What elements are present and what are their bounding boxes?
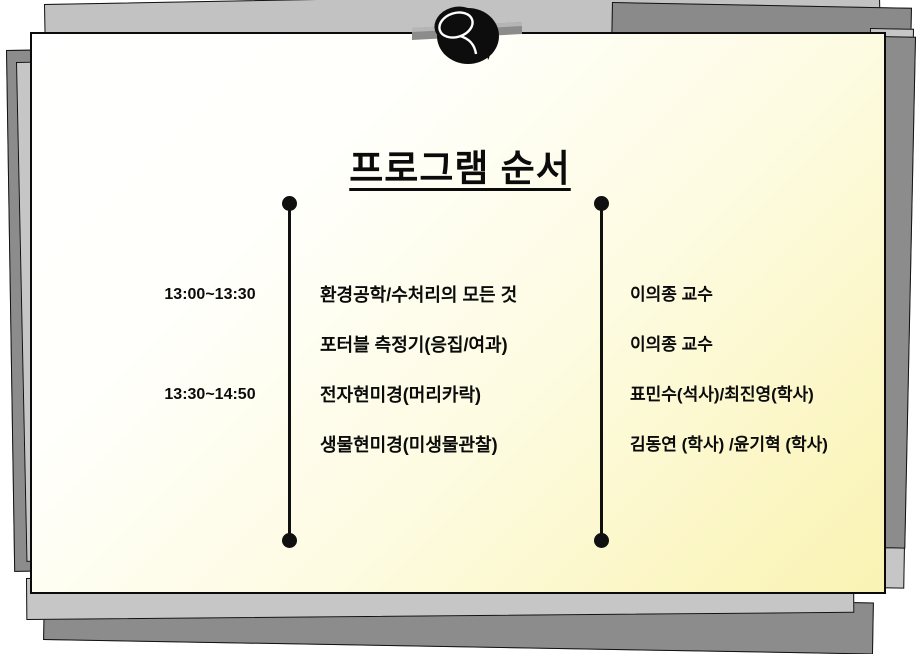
divider-cap-top — [282, 196, 297, 211]
divider-cap-bottom — [594, 533, 609, 548]
schedule-time: 13:30~14:50 — [144, 370, 276, 420]
schedule-time: 13:00~13:30 — [144, 270, 276, 320]
divider-cap-top — [594, 196, 609, 211]
main-page: 프로그램 순서 13:00~13:30 환경공학/수처리의 모든 것 이의종 교… — [30, 32, 886, 594]
schedule-list: 13:00~13:30 환경공학/수처리의 모든 것 이의종 교수 포터블 측정… — [32, 270, 888, 470]
schedule-row: 생물현미경(미생물관찰) 김동연 (학사) /윤기혁 (학사) — [32, 420, 888, 470]
schedule-presenter: 이의종 교수 — [630, 270, 713, 320]
schedule-row: 13:30~14:50 전자현미경(머리카락) 표민수(석사)/최진영(학사) — [32, 370, 888, 420]
schedule-program: 포터블 측정기(응집/여과) — [320, 320, 508, 370]
divider-cap-bottom — [282, 533, 297, 548]
schedule-row: 포터블 측정기(응집/여과) 이의종 교수 — [32, 320, 888, 370]
schedule-program: 환경공학/수처리의 모든 것 — [320, 270, 517, 320]
slide-canvas: 프로그램 순서 13:00~13:30 환경공학/수처리의 모든 것 이의종 교… — [0, 0, 920, 649]
schedule-presenter: 표민수(석사)/최진영(학사) — [630, 370, 814, 420]
schedule-presenter: 김동연 (학사) /윤기혁 (학사) — [630, 420, 828, 470]
schedule-presenter: 이의종 교수 — [630, 320, 713, 370]
page-title: 프로그램 순서 — [32, 138, 888, 192]
schedule-program: 생물현미경(미생물관찰) — [320, 420, 498, 470]
binder-clip-icon — [412, 0, 522, 72]
schedule-program: 전자현미경(머리카락) — [320, 370, 481, 420]
schedule-row: 13:00~13:30 환경공학/수처리의 모든 것 이의종 교수 — [32, 270, 888, 320]
